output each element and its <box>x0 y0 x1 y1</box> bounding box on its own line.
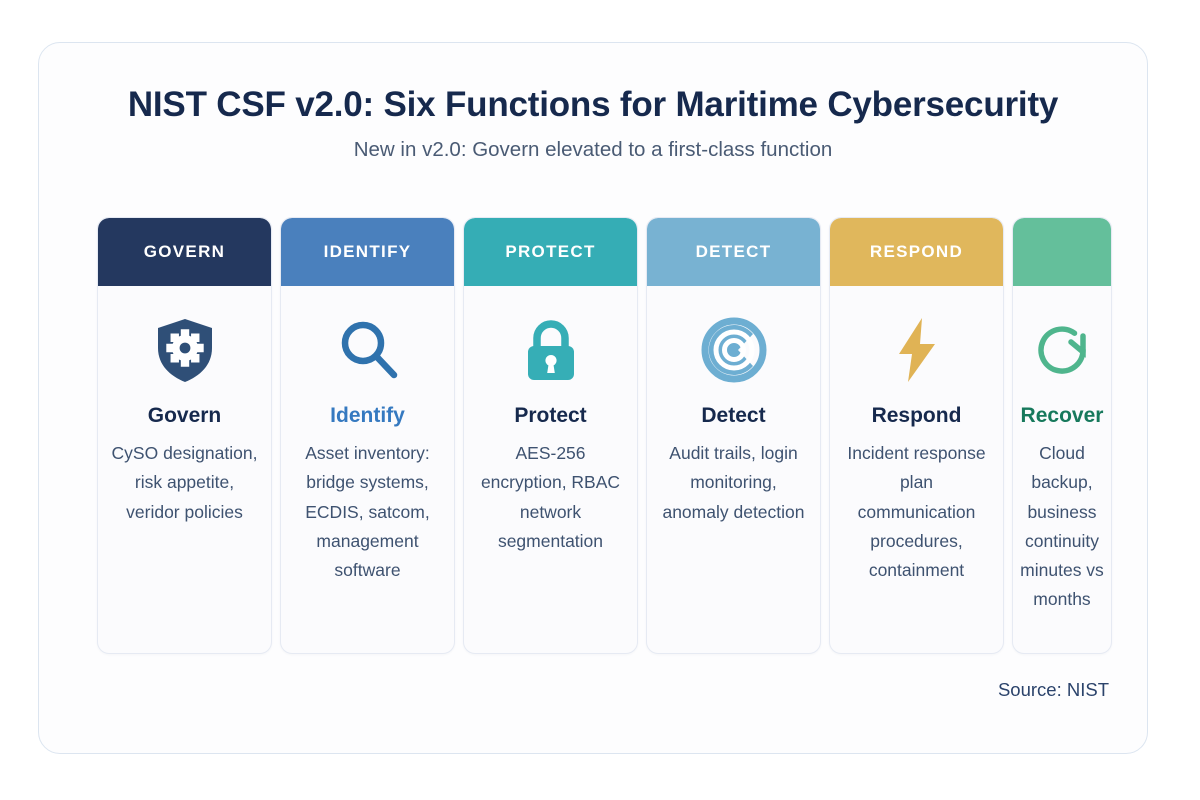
card-header-label: DETECT <box>696 242 772 262</box>
function-card[interactable]: GOVERNGovernCySO designation, risk appet… <box>97 217 272 654</box>
page-title: NIST CSF v2.0: Six Functions for Maritim… <box>59 85 1127 124</box>
card-header-label: IDENTIFY <box>324 242 412 262</box>
card-title: Identify <box>330 404 405 427</box>
card-description: AES-256 encryption, RBAC network segment… <box>464 439 637 556</box>
function-card-row: GOVERNGovernCySO designation, risk appet… <box>97 217 1148 657</box>
card-title: Respond <box>872 404 962 427</box>
card-header <box>1013 218 1111 286</box>
card-header: PROTECT <box>464 218 637 286</box>
card-description: CySO designation, risk appetite, veridor… <box>98 439 271 527</box>
function-card[interactable]: DETECTDetectAudit trails, login monitori… <box>646 217 821 654</box>
card-header: GOVERN <box>98 218 271 286</box>
card-header-label: RESPOND <box>870 242 963 262</box>
card-header: DETECT <box>647 218 820 286</box>
padlock-icon <box>515 312 587 388</box>
card-title: Detect <box>701 404 765 427</box>
card-header: IDENTIFY <box>281 218 454 286</box>
function-card[interactable]: RESPONDRespondIncident response plan com… <box>829 217 1004 654</box>
function-card[interactable]: PROTECTProtectAES-256 encryption, RBAC n… <box>463 217 638 654</box>
page-subtitle: New in v2.0: Govern elevated to a first-… <box>59 138 1127 163</box>
circular-restore-arrow-icon <box>1026 312 1098 388</box>
card-title: Govern <box>148 404 222 427</box>
magnifier-icon <box>332 312 404 388</box>
card-header-label: GOVERN <box>144 242 225 262</box>
function-card[interactable]: IDENTIFYIdentifyAsset inventory: bridge … <box>280 217 455 654</box>
card-description: Audit trails, login monitoring, anomaly … <box>647 439 820 527</box>
card-title: Protect <box>514 404 586 427</box>
lightning-bolt-icon <box>881 312 953 388</box>
card-description: Incident response plan communication pro… <box>830 439 1003 585</box>
shield-gear-icon <box>149 312 221 388</box>
content-panel: NIST CSF v2.0: Six Functions for Maritim… <box>38 42 1148 754</box>
card-description: Asset inventory: bridge systems, ECDIS, … <box>281 439 454 585</box>
infographic-root: NIST CSF v2.0: Six Functions for Maritim… <box>0 0 1200 800</box>
card-description: Cloud backup, business continuity minute… <box>1013 439 1111 614</box>
card-header: RESPOND <box>830 218 1003 286</box>
card-header-label: PROTECT <box>505 242 595 262</box>
radar-target-icon <box>698 312 770 388</box>
card-title: Recover <box>1021 404 1104 427</box>
source-attribution: Source: NIST <box>998 679 1109 701</box>
function-card[interactable]: RecoverCloud backup, business continuity… <box>1012 217 1112 654</box>
